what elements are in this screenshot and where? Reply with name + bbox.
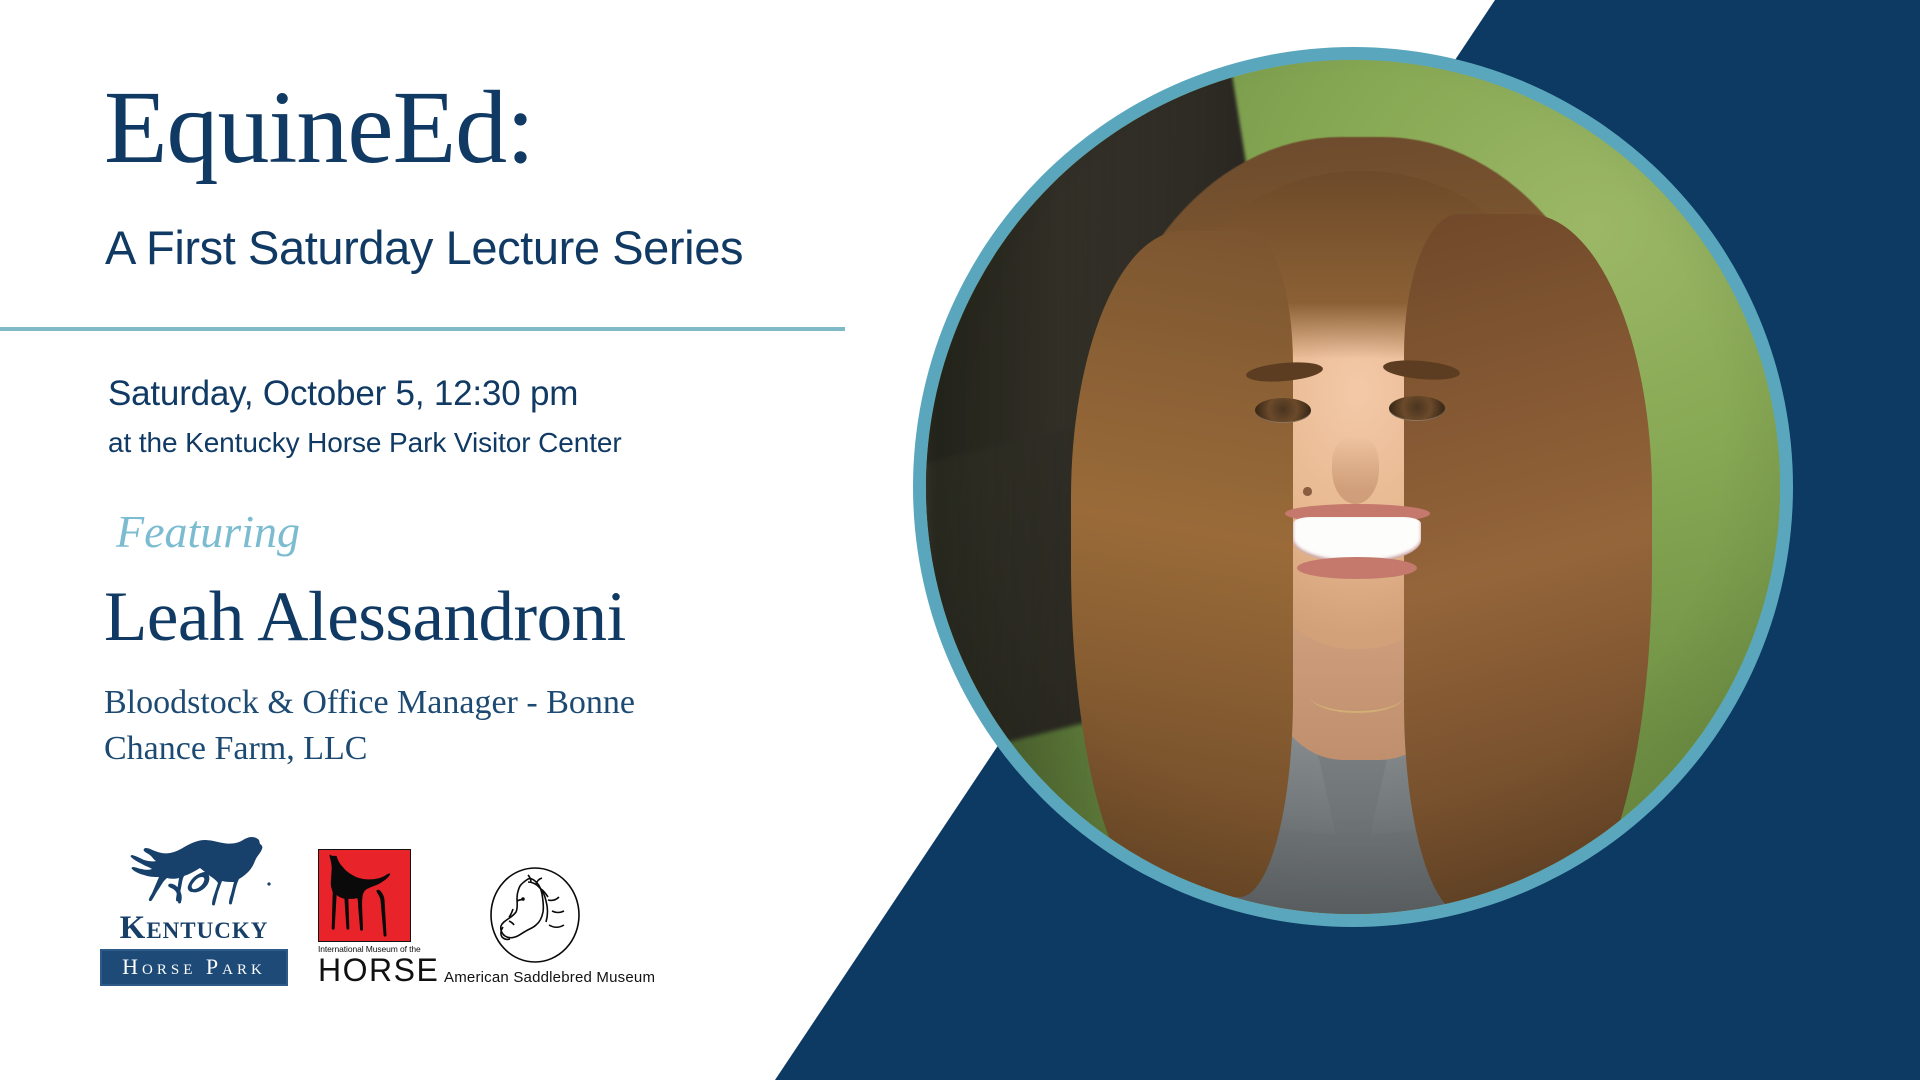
sponsor-logo-row: Kentucky Horse Park International Museum…	[100, 832, 616, 986]
running-horse-with-foal-icon	[109, 832, 279, 910]
horizontal-divider	[0, 327, 845, 331]
poster-text-column: EquineEd: A First Saturday Lecture Serie…	[0, 0, 900, 1080]
logo-american-saddlebred-museum: American Saddlebred Museum	[444, 865, 616, 986]
horse-head-in-circle-icon	[473, 865, 588, 965]
logo-imh-wordmark: HORSE	[318, 954, 414, 986]
speaker-portrait-image	[926, 60, 1780, 914]
logo-khp-bar: Horse Park	[100, 949, 288, 986]
black-horse-silhouette-icon	[318, 849, 411, 942]
logo-asm-wordmark: American Saddlebred Museum	[444, 969, 616, 986]
featuring-label: Featuring	[116, 505, 300, 558]
event-date-time: Saturday, October 5, 12:30 pm	[108, 374, 578, 414]
poster-canvas: EquineEd: A First Saturday Lecture Serie…	[0, 0, 1920, 1080]
speaker-portrait-circle	[913, 47, 1793, 927]
page-subtitle: A First Saturday Lecture Series	[105, 222, 743, 274]
logo-kentucky-horse-park: Kentucky Horse Park	[100, 832, 288, 986]
photo-vignette	[926, 60, 1780, 914]
speaker-job-title: Bloodstock & Office Manager - Bonne Chan…	[104, 680, 744, 772]
logo-international-museum-of-the-horse: International Museum of the HORSE	[318, 849, 414, 987]
speaker-name: Leah Alessandroni	[104, 582, 626, 653]
event-location: at the Kentucky Horse Park Visitor Cente…	[108, 427, 622, 459]
page-title: EquineEd:	[104, 76, 534, 180]
logo-khp-wordmark: Kentucky	[100, 912, 288, 945]
